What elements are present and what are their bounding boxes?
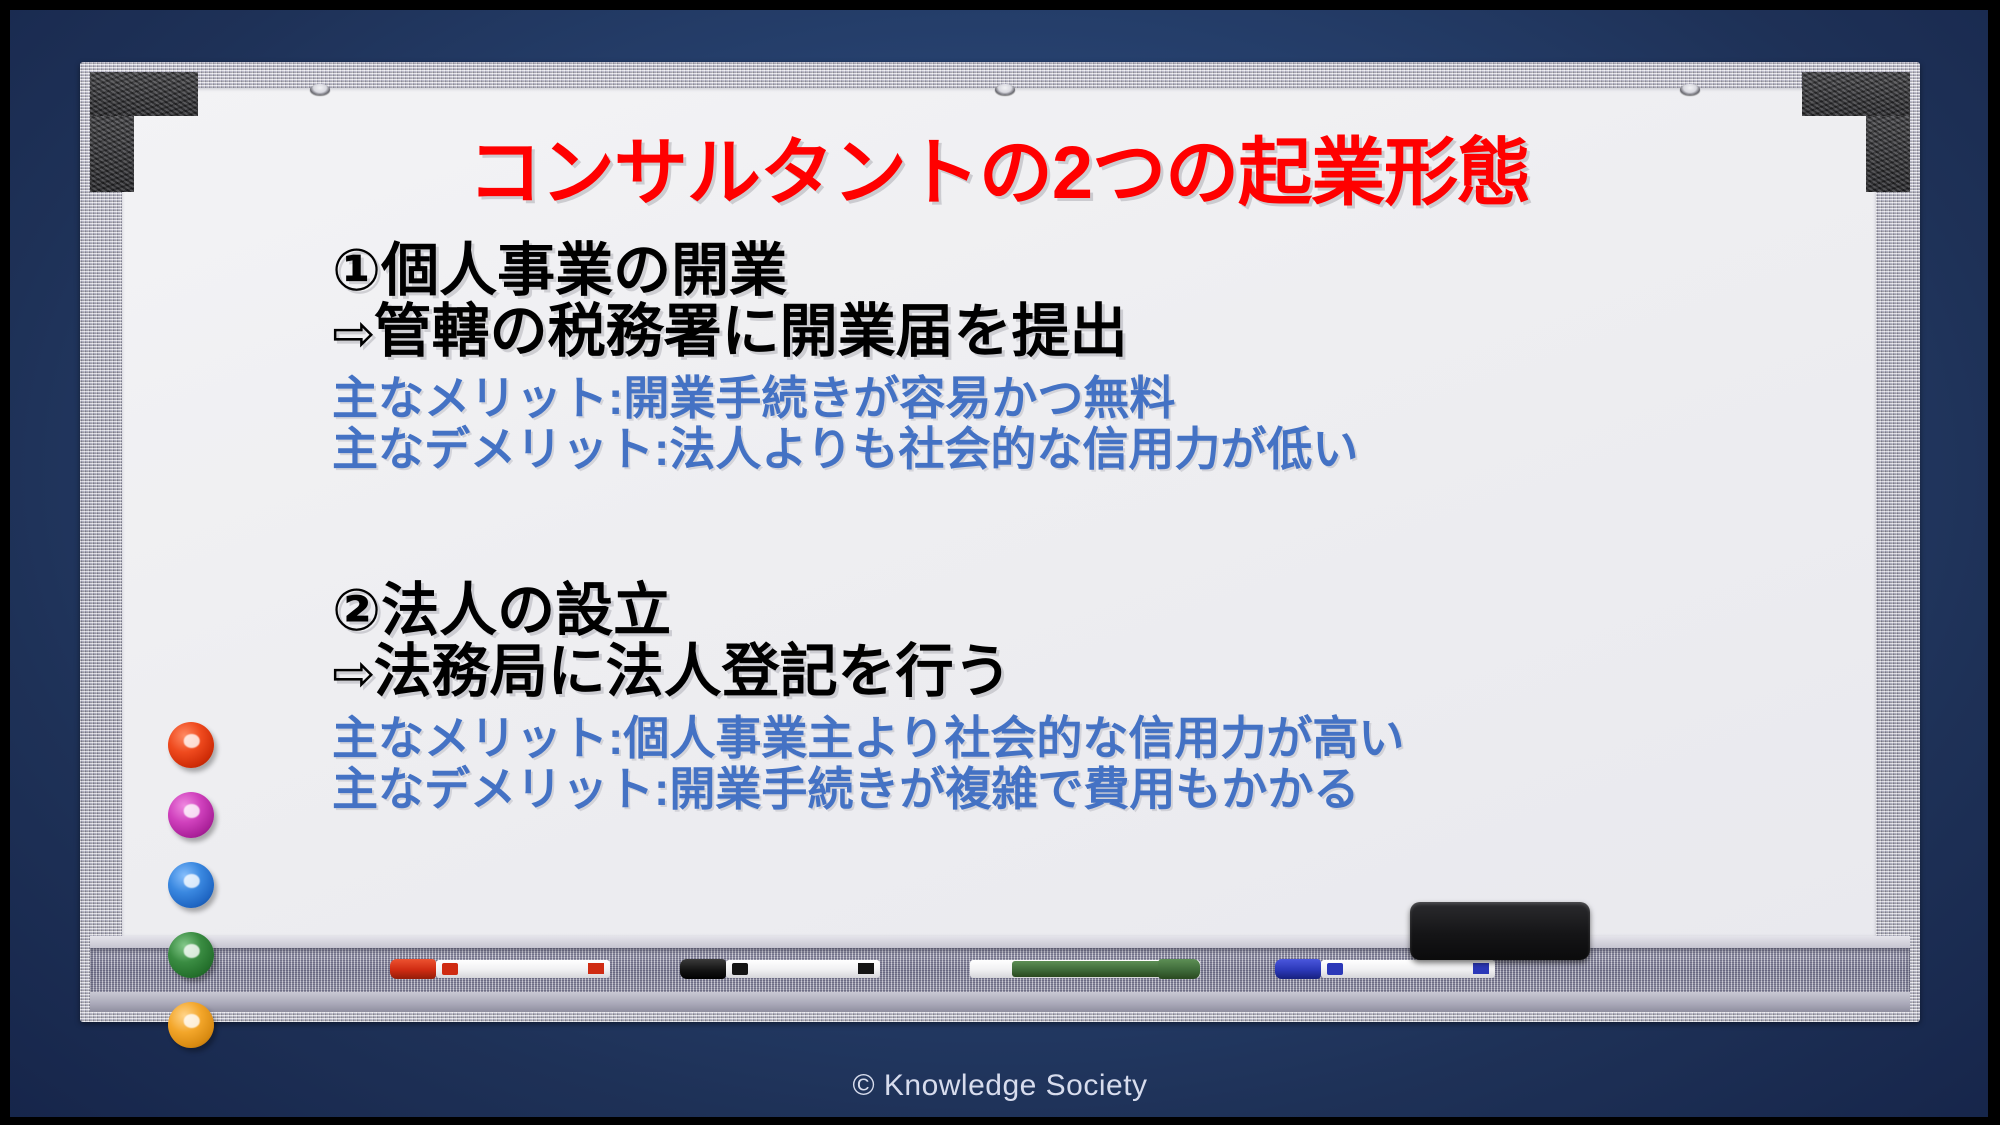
footer-copyright: © Knowledge Society <box>0 1069 2000 1103</box>
magnet-magenta[interactable] <box>168 792 214 838</box>
eraser[interactable] <box>1410 902 1590 960</box>
magnet-orange[interactable] <box>168 1002 214 1048</box>
board-content: コンサルタントの2つの起業形態 ①個人事業の開業 ⇨管轄の税務署に開業届を提出 … <box>122 88 1876 936</box>
slide-border-right <box>1988 0 2000 1125</box>
slide-title: コンサルタントの2つの起業形態 <box>122 136 1876 210</box>
arrow-right-icon: ⇨ <box>332 305 374 363</box>
slide-border-bottom <box>0 1117 2000 1125</box>
whiteboard: コンサルタントの2つの起業形態 ①個人事業の開業 ⇨管轄の税務署に開業届を提出 … <box>80 62 1920 1022</box>
section-2-action: 法務局に法人登記を行う <box>374 639 1012 704</box>
section-2-merit: 主なメリット:個人事業主より社会的な信用力が高い <box>332 713 1856 765</box>
marker-black[interactable] <box>680 958 880 980</box>
section-2-heading: ②法人の設立 <box>332 580 1856 641</box>
section-1-action-line: ⇨管轄の税務署に開業届を提出 <box>332 301 1856 362</box>
section-2-action-line: ⇨法務局に法人登記を行う <box>332 641 1856 702</box>
pen-tray <box>90 936 1910 1012</box>
slide-border-left <box>0 0 10 1125</box>
section-1-demerit: 主なデメリット:法人よりも社会的な信用力が低い <box>332 424 1856 476</box>
magnet-red[interactable] <box>168 722 214 768</box>
magnet-green[interactable] <box>168 932 214 978</box>
section-1-merit: 主なメリット:開業手続きが容易かつ無料 <box>332 373 1856 425</box>
magnet-blue[interactable] <box>168 862 214 908</box>
marker-green[interactable] <box>970 958 1200 980</box>
section-2: ②法人の設立 ⇨法務局に法人登記を行う 主なメリット:個人事業主より社会的な信用… <box>332 580 1856 816</box>
marker-red[interactable] <box>390 958 610 980</box>
slide-border-top <box>0 0 2000 10</box>
section-1-action: 管轄の税務署に開業届を提出 <box>374 299 1128 364</box>
section-1-heading: ①個人事業の開業 <box>332 240 1856 301</box>
marker-blue[interactable] <box>1275 958 1495 980</box>
slide-canvas: コンサルタントの2つの起業形態 ①個人事業の開業 ⇨管轄の税務署に開業届を提出 … <box>0 0 2000 1125</box>
magnet-group <box>168 722 214 1072</box>
section-1: ①個人事業の開業 ⇨管轄の税務署に開業届を提出 主なメリット:開業手続きが容易か… <box>332 240 1856 476</box>
section-2-demerit: 主なデメリット:開業手続きが複雑で費用もかかる <box>332 764 1856 816</box>
arrow-right-icon: ⇨ <box>332 645 374 703</box>
